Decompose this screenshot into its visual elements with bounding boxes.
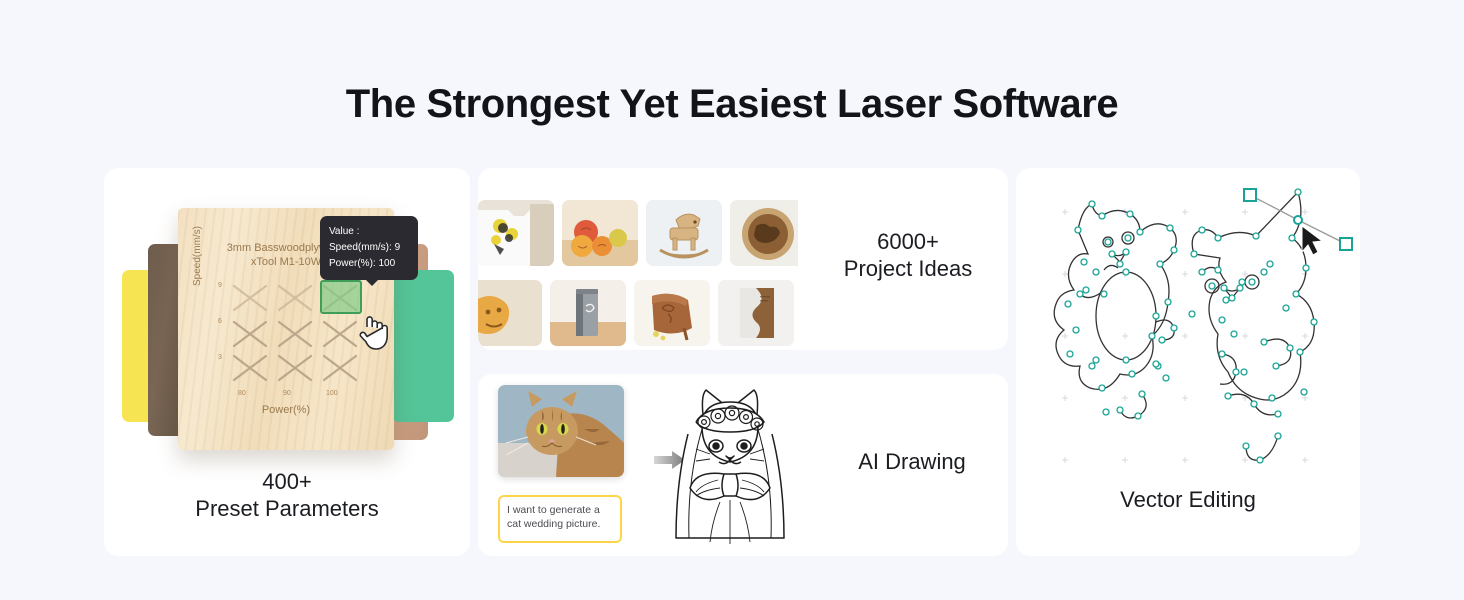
x-tick-100: 100 xyxy=(326,390,338,397)
card-vector-editing: Vector Editing xyxy=(1016,168,1360,556)
vector-caption-text: Vector Editing xyxy=(1016,486,1360,513)
x-tick-90: 90 xyxy=(283,390,291,397)
ideas-count: 6000+ xyxy=(818,228,998,255)
gallery-row-2 xyxy=(478,280,798,346)
y-tick-3: 3 xyxy=(218,354,222,361)
thumb-tshirt-print[interactable] xyxy=(478,200,554,266)
page-title: The Strongest Yet Easiest Laser Software xyxy=(0,82,1464,127)
anchor-points-left xyxy=(1065,201,1177,419)
thumb-cookie-dog[interactable] xyxy=(478,280,542,346)
card-ai-drawing: I want to generate a cat wedding picture… xyxy=(478,374,1008,556)
project-gallery[interactable] xyxy=(478,168,798,350)
tooltip-speed: Speed(mm/s): 9 xyxy=(329,240,409,256)
ai-caption-text: AI Drawing xyxy=(826,448,998,475)
thumb-wood-wall-art[interactable] xyxy=(718,280,794,346)
selected-parameter-cell[interactable] xyxy=(320,280,362,314)
vector-canvas[interactable] xyxy=(1016,168,1360,468)
tooltip-header: Value : xyxy=(329,224,409,240)
ideas-caption: 6000+ Project Ideas xyxy=(818,228,998,282)
y-tick-9: 9 xyxy=(218,282,222,289)
vector-paths[interactable] xyxy=(1016,168,1360,468)
thumb-wood-bowl-map[interactable] xyxy=(730,200,798,266)
thumb-macarons[interactable] xyxy=(562,200,638,266)
preset-count: 400+ xyxy=(104,468,470,495)
preset-caption: 400+ Preset Parameters xyxy=(104,468,470,522)
promo-page: The Strongest Yet Easiest Laser Software… xyxy=(0,0,1464,600)
tooltip-power: Power(%): 100 xyxy=(329,256,409,272)
card-preset-parameters: 3mm Basswoodplywood xTool M1-10W Speed(m… xyxy=(104,168,470,556)
preset-caption-text: Preset Parameters xyxy=(104,495,470,522)
material-slab-green xyxy=(392,270,454,422)
ai-generated-result xyxy=(658,382,802,548)
material-stack: 3mm Basswoodplywood xTool M1-10W Speed(m… xyxy=(104,186,470,456)
card-project-ideas: 6000+ Project Ideas xyxy=(478,168,1008,350)
source-photo-cat xyxy=(498,385,624,477)
vector-shape-cat-right xyxy=(1192,192,1314,460)
vector-shape-cat-left xyxy=(1054,204,1176,418)
ideas-caption-text: Project Ideas xyxy=(818,255,998,282)
y-axis-label: Speed(mm/s) xyxy=(192,226,203,286)
thumb-leather-pouch[interactable] xyxy=(634,280,710,346)
selected-anchor-point xyxy=(1294,216,1302,224)
thumb-rocking-horse[interactable] xyxy=(646,200,722,266)
parameter-tooltip: Value : Speed(mm/s): 9 Power(%): 100 xyxy=(320,216,418,280)
y-tick-6: 6 xyxy=(218,318,222,325)
gallery-row-1 xyxy=(478,200,798,266)
parameter-grid xyxy=(230,280,364,384)
hand-cursor-icon xyxy=(358,314,392,359)
ai-prompt-input[interactable]: I want to generate a cat wedding picture… xyxy=(498,495,622,543)
x-tick-80: 80 xyxy=(238,390,246,397)
x-axis-label: Power(%) xyxy=(178,404,394,416)
thumb-metal-lighter[interactable] xyxy=(550,280,626,346)
